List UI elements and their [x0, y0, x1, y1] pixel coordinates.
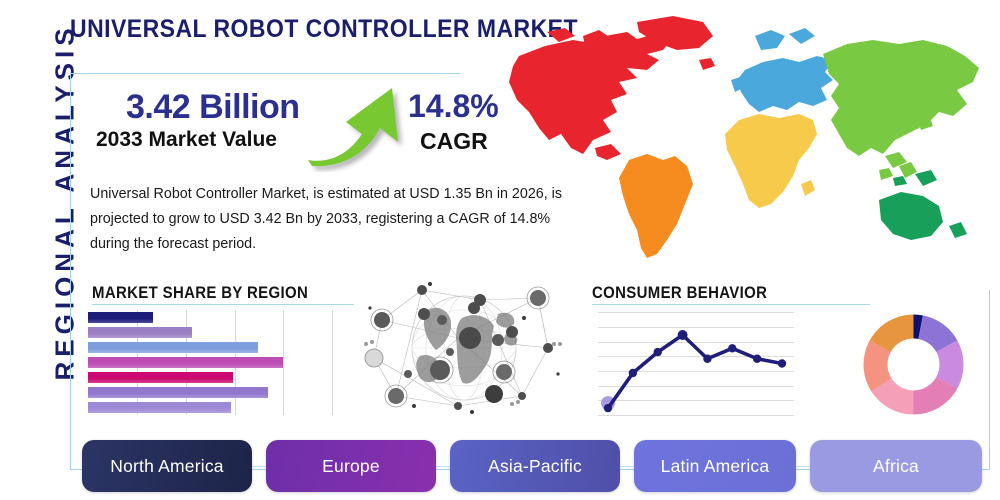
side-label: REGIONAL ANALYSIS: [50, 61, 81, 381]
line-chart-marker: [654, 348, 662, 356]
bar-chart-bar: [88, 342, 258, 353]
region-button-label: Asia-Pacific: [488, 456, 582, 477]
cagr-value: 14.8%: [408, 88, 499, 125]
line-chart-plot: [598, 310, 794, 415]
region-button-label: Latin America: [661, 456, 770, 477]
consumer-behavior-rule: [592, 304, 870, 305]
market-value: 3.42 Billion: [126, 88, 300, 127]
line-chart-marker: [753, 355, 761, 363]
bar-chart-bar: [88, 372, 233, 383]
region-button-label: Africa: [873, 456, 919, 477]
consumer-behavior-heading: CONSUMER BEHAVIOR: [592, 283, 767, 303]
region-button-north-america[interactable]: North America: [82, 440, 252, 492]
line-chart-gridline: [598, 415, 794, 416]
bar-chart-bar: [88, 387, 268, 398]
global-network-globe-icon: [362, 278, 567, 418]
region-button-latin-america[interactable]: Latin America: [634, 440, 796, 492]
infographic-root: REGIONAL ANALYSIS UNIVERSAL ROBOT CONTRO…: [0, 0, 1000, 500]
consumer-behavior-line-chart: [598, 310, 794, 415]
kpi-block: 3.42 Billion 2033 Market Value 14.8% CAG…: [88, 90, 508, 170]
line-chart-marker: [604, 404, 612, 412]
bar-chart-bar: [88, 402, 231, 413]
button-connector: [796, 466, 810, 467]
market-value-caption: 2033 Market Value: [96, 128, 277, 152]
line-chart-marker: [678, 330, 688, 340]
market-share-bar-chart: [88, 310, 303, 415]
regional-donut-chart: [861, 312, 966, 417]
region-button-africa[interactable]: Africa: [810, 440, 982, 492]
region-button-label: Europe: [322, 456, 380, 477]
line-chart-marker: [778, 359, 786, 367]
line-chart-marker: [703, 355, 711, 363]
bar-chart-bar: [88, 312, 153, 323]
region-button-row: North AmericaEuropeAsia-PacificLatin Ame…: [82, 440, 982, 492]
bar-chart-bar: [88, 357, 283, 368]
bar-chart-gridline: [332, 310, 333, 415]
region-button-asia-pacific[interactable]: Asia-Pacific: [450, 440, 620, 492]
region-button-label: North America: [110, 456, 223, 477]
button-connector: [436, 466, 450, 467]
growth-arrow-icon: [306, 82, 416, 172]
line-chart-marker: [728, 344, 736, 352]
region-button-europe[interactable]: Europe: [266, 440, 436, 492]
donut-chart-plot: [861, 312, 966, 417]
button-connector: [252, 466, 266, 467]
market-share-rule: [92, 304, 354, 305]
market-description: Universal Robot Controller Market, is es…: [90, 182, 580, 257]
button-connector: [620, 466, 634, 467]
cagr-caption: CAGR: [420, 128, 488, 155]
bar-chart-bar: [88, 327, 192, 338]
market-share-heading: MARKET SHARE BY REGION: [92, 283, 308, 303]
bar-chart-gridline: [283, 310, 284, 415]
line-chart-marker: [629, 369, 637, 377]
